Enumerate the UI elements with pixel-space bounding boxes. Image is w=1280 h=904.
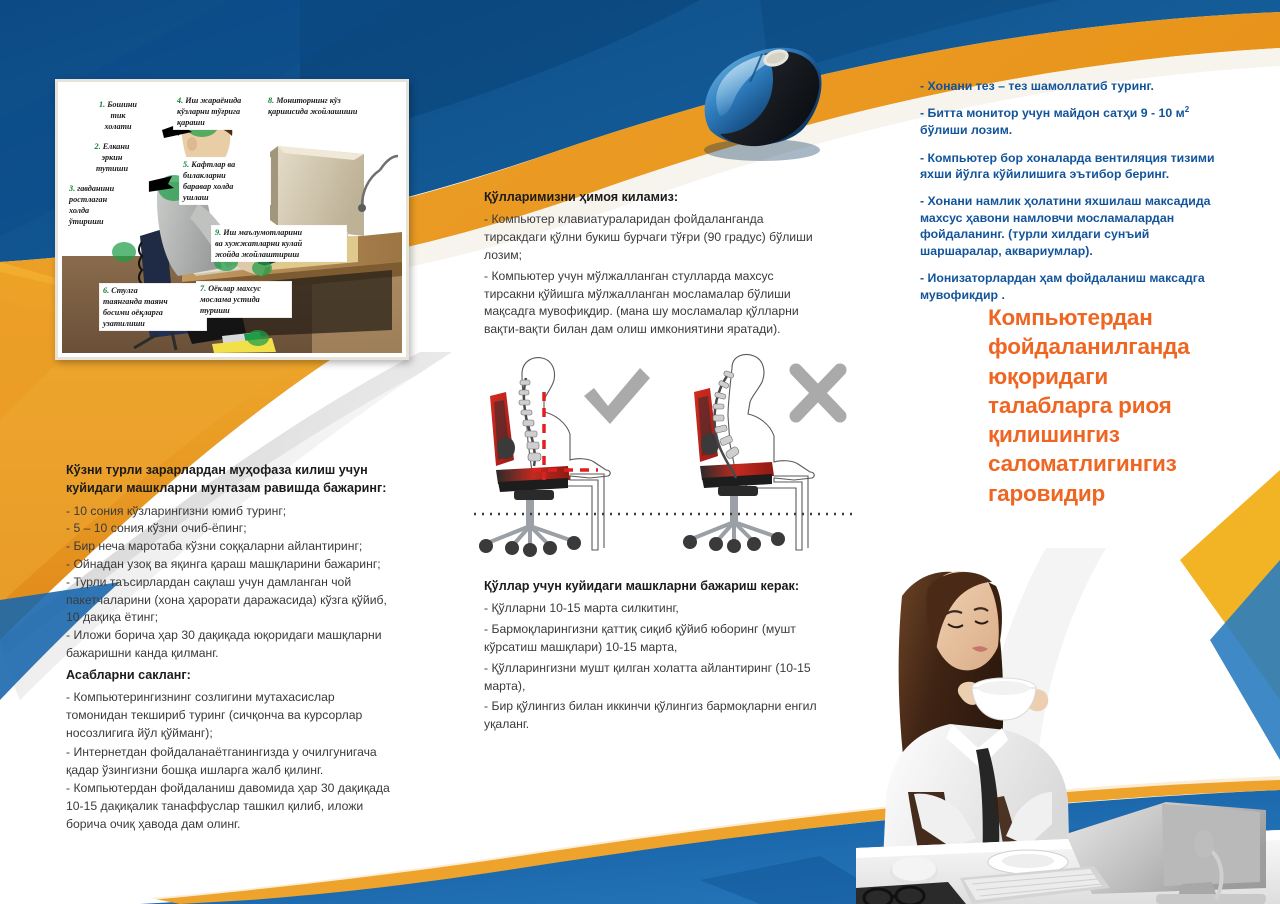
paragraph: - Бармоқларингизни қаттиқ сиқиб қўйиб юб… [484, 621, 824, 657]
paragraph: - Турли таъсирлардан сақлаш учун дамланг… [66, 574, 388, 627]
paragraph: - Қўлларингизни мушт қилган холатта айла… [484, 660, 824, 696]
paragraph: - Компьютер учун мўлжалланган стулларда … [484, 268, 814, 339]
section-heading: Кўзни турли зарарлардан муҳофаза килиш у… [66, 461, 388, 498]
section-body: - Компьютерингизнинг созлигини мутахасис… [66, 689, 396, 834]
photo-label-4: 4. Иш жараёнида кўзларни тўғрига қараши [174, 94, 266, 129]
eye-exercises-section: Кўзни турли зарарлардан муҳофаза килиш у… [66, 461, 388, 663]
paragraph: - 5 – 10 сония кўзни очиб-ёпинг; [66, 520, 388, 538]
ventilation-tips-list: - Хонани тез – тез шамоллатиб туринг. - … [920, 78, 1230, 314]
tip-item: - Хонани тез – тез шамоллатиб туринг. [920, 78, 1230, 94]
photo-label-2: 2. Елкани эркин тутиши [78, 140, 146, 175]
section-body: - Қўлларни 10-15 марта силкитинг, - Барм… [484, 600, 824, 734]
paragraph: - Бир неча маротаба кўзни соққаларни айл… [66, 538, 388, 556]
ergonomic-workstation-photo-card: 1. Бошини тик холати 2. Елкани эркин тут… [55, 79, 409, 360]
tip-item: - Битта монитор учун майдон сатҳи 9 - 10… [920, 105, 1230, 138]
section-heading: Асабларни сакланг: [66, 666, 396, 684]
paragraph: - 10 сония кўзларингизни юмиб туринг; [66, 503, 388, 521]
brochure-page: 1. Бошини тик холати 2. Елкани эркин тут… [0, 0, 1280, 904]
sitting-posture-comparison-diagram [470, 352, 852, 570]
photo-label-5: 5. Кафтлар ва билакларни баравар холда у… [180, 158, 270, 204]
hand-protection-section: Қўлларимизни ҳимоя киламиз: - Компьютер … [484, 188, 814, 342]
paragraph: - Иложи борича ҳар 30 дақиқада юқоридаги… [66, 627, 388, 663]
photo-label-8: 8. Мониторнинг кўз қаршисида жойлашиши [265, 94, 383, 118]
photo-label-9: 9. Иш маълумотларини ва хужжатларни кула… [212, 226, 346, 261]
paragraph: - Интернетдан фойдаланаётганингизда у оч… [66, 744, 396, 780]
section-heading: Қўллар учун куйидаги машкларни бажариш к… [484, 577, 824, 595]
photo-label-6: 6. Стулга таянганда таянч босими оёқларг… [100, 284, 206, 330]
tip-item: - Компьютер бор хоналарда вентиляция тиз… [920, 150, 1230, 183]
main-headline: Компьютердан фойдаланилганда юқоридаги т… [988, 303, 1238, 508]
section-body: - 10 сония кўзларингизни юмиб туринг; - … [66, 503, 388, 663]
tip-item: - Ионизаторлардан ҳам фойдаланиш максадг… [920, 270, 1230, 303]
paragraph: - Компьютер клавиатураларидан фойдаланга… [484, 211, 814, 264]
paragraph: - Компьютердан фойдаланиш давомида ҳар 3… [66, 780, 396, 833]
paragraph: - Қўлларни 10-15 марта силкитинг, [484, 600, 824, 618]
section-body: - Компьютер клавиатураларидан фойдаланга… [484, 211, 814, 339]
paragraph: - Бир қўлингиз билан иккинчи қўлингиз ба… [484, 698, 824, 734]
paragraph: - Ойнадан узоқ ва яқинга қараш машқларин… [66, 556, 388, 574]
photo-label-7: 7. Оёклар махсус мослама устида туриши [197, 282, 291, 317]
photo-label-1: 1. Бошини тик холати [84, 98, 152, 133]
tip-item: - Хонани намлик ҳолатини яхшилаш максади… [920, 193, 1230, 259]
section-heading: Қўлларимизни ҳимоя киламиз: [484, 188, 814, 206]
paragraph: - Компьютерингизнинг созлигини мутахасис… [66, 689, 396, 742]
woman-at-computer-photo [856, 548, 1280, 904]
photo-label-3: 3. гавданини ростлаган холда ўтириши [66, 182, 148, 228]
hand-exercises-section: Қўллар учун куйидаги машкларни бажариш к… [484, 577, 824, 737]
computer-mouse-image [672, 18, 848, 170]
nerve-care-section: Асабларни сакланг: - Компьютерингизнинг … [66, 666, 396, 835]
